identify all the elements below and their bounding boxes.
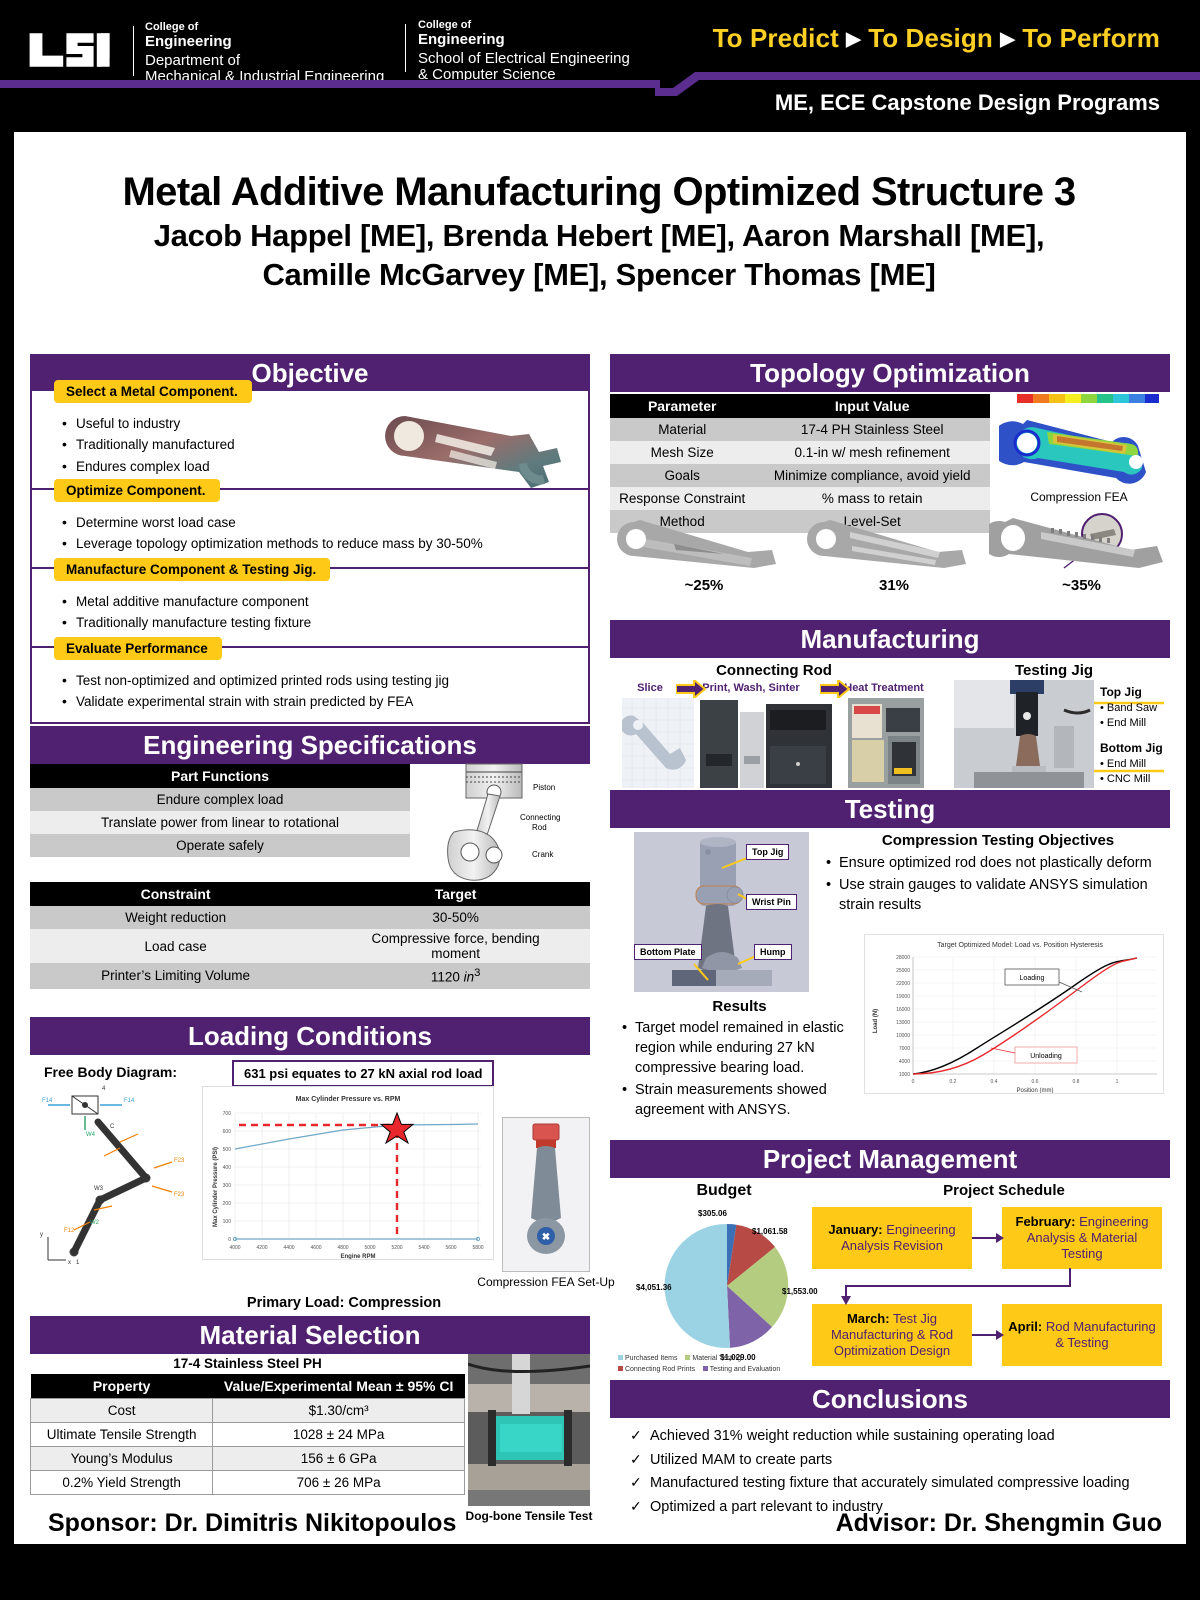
- arrow-icon-step2: [820, 680, 850, 698]
- svg-text:19000: 19000: [896, 994, 910, 1000]
- dept2-school: School of Electrical Engineering: [418, 51, 630, 67]
- schedule-month-march: March:: [847, 1311, 890, 1326]
- svg-text:10000: 10000: [896, 1033, 910, 1039]
- list-item: Target model remained in elastic region …: [622, 1018, 857, 1078]
- pie-label-2: $1,061.58: [752, 1227, 788, 1236]
- schedule-box-march: March: Test Jig Manufacturing & Rod Opti…: [812, 1304, 972, 1366]
- connecting-rod-title: Connecting Rod: [624, 662, 924, 679]
- svg-text:400: 400: [223, 1165, 232, 1171]
- capstone-label: ME, ECE Capstone Design Programs: [775, 90, 1160, 116]
- svg-text:25000: 25000: [896, 968, 910, 974]
- variant-image-1: [614, 514, 794, 574]
- conclusions-list: Achieved 31% weight reduction while sust…: [630, 1426, 1170, 1520]
- arrow-icon-mar-apr: [972, 1328, 1004, 1342]
- dept1-engineering: Engineering: [145, 34, 384, 50]
- table-cell: Response Constraint: [610, 487, 754, 510]
- svg-text:4000: 4000: [229, 1245, 240, 1251]
- svg-text:F14: F14: [42, 1098, 53, 1104]
- objective-pill-4: Evaluate Performance: [54, 637, 222, 660]
- svg-text:F23: F23: [174, 1192, 185, 1198]
- banner-testing: Testing: [610, 790, 1170, 828]
- column-header-input-value: Input Value: [754, 394, 990, 418]
- footer-bar: [0, 1548, 1200, 1600]
- column-header-target: Target: [321, 882, 590, 906]
- svg-text:4600: 4600: [310, 1245, 321, 1251]
- svg-text:700: 700: [223, 1111, 232, 1117]
- svg-text:100: 100: [223, 1219, 232, 1225]
- table-cell: 156 ± 6 GPa: [213, 1447, 465, 1471]
- column-header-value: Value/Experimental Mean ± 95% CI: [213, 1374, 465, 1399]
- table-cell: 1028 ± 24 MPa: [213, 1423, 465, 1447]
- pie-label-1: $305.06: [698, 1209, 727, 1218]
- table-cell: Mesh Size: [610, 441, 754, 464]
- svg-text:0.8: 0.8: [1073, 1079, 1080, 1085]
- svg-text:4000: 4000: [899, 1059, 910, 1065]
- list-item: • End Mill: [1100, 757, 1163, 772]
- top-jig-title: Top Jig: [1100, 685, 1142, 699]
- table-cell: Young’s Modulus: [31, 1447, 213, 1471]
- list-item: Traditionally manufacture testing fixtur…: [62, 612, 588, 633]
- svg-text:13000: 13000: [896, 1020, 910, 1026]
- column-header-parameter: Parameter: [610, 394, 754, 418]
- testing-jig-cad-diagram: Top Jig Wrist Pin Bottom Plate Hump: [634, 832, 809, 992]
- legend-item-2: Material Testing: [685, 1354, 741, 1365]
- column-header-constraint: Constraint: [30, 882, 321, 906]
- variant-label-2: 31%: [804, 577, 984, 594]
- svg-text:0: 0: [228, 1237, 231, 1243]
- callout-text: 631 psi equates to 27 kN axial rod load: [232, 1060, 494, 1087]
- cad-label-wrist-pin: Wrist Pin: [746, 894, 797, 910]
- part-functions-header: Part Functions: [30, 764, 410, 788]
- dept2-engineering: Engineering: [418, 32, 630, 48]
- list-item: Validate experimental strain with strain…: [62, 691, 588, 712]
- diagram-label-piston: Piston: [533, 783, 555, 792]
- list-item: Metal additive manufacture component: [62, 591, 588, 612]
- authors-line-1: Jacob Happel [ME], Brenda Hebert [ME], A…: [34, 217, 1164, 254]
- svg-text:Engine RPM: Engine RPM: [340, 1254, 375, 1259]
- top-jig-notes: Top Jig • Band Saw • End Mill: [1100, 684, 1157, 731]
- schedule-month-april: April:: [1008, 1319, 1042, 1334]
- constraints-table: Constraint Target Weight reduction 30-50…: [30, 882, 590, 989]
- banner-manufacturing: Manufacturing: [610, 620, 1170, 658]
- svg-text:✖: ✖: [542, 1232, 550, 1243]
- table-cell: 30-50%: [321, 906, 590, 929]
- svg-text:22000: 22000: [896, 981, 910, 987]
- svg-text:5600: 5600: [445, 1245, 456, 1251]
- banner-material-selection: Material Selection: [30, 1316, 590, 1354]
- table-cell: Material: [610, 418, 754, 441]
- testing-results: Results Target model remained in elastic…: [622, 998, 857, 1122]
- svg-text:0.6: 0.6: [1032, 1079, 1039, 1085]
- tagline-predict: To Predict: [713, 23, 839, 53]
- dept-block-ece: College of Engineering School of Electri…: [418, 20, 630, 83]
- list-item: • Band Saw: [1100, 701, 1157, 716]
- poster-body: Metal Additive Manufacturing Optimized S…: [14, 132, 1186, 1544]
- tagline-perform: To Perform: [1022, 23, 1160, 53]
- table-cell: % mass to retain: [754, 487, 990, 510]
- bottom-jig-notes: Bottom Jig • End Mill • CNC Mill: [1100, 740, 1163, 787]
- dogbone-tensile-photo: [468, 1354, 590, 1506]
- chart-annotation-loading: Loading: [1020, 975, 1045, 982]
- schedule-month-january: January:: [828, 1222, 882, 1237]
- dogbone-caption: Dog-bone Tensile Test: [454, 1509, 604, 1523]
- banner-engineering-specifications: Engineering Specifications: [30, 726, 590, 764]
- chart-annotation-unloading: Unloading: [1030, 1053, 1062, 1060]
- table-cell: Ultimate Tensile Strength: [31, 1423, 213, 1447]
- arrow-icon-feb-mar: [834, 1268, 1074, 1306]
- list-item: Manufactured testing fixture that accura…: [630, 1473, 1170, 1494]
- table-cell: 17-4 PH Stainless Steel: [754, 418, 990, 441]
- list-item: Determine worst load case: [62, 512, 588, 533]
- pie-label-5: $4,051.36: [636, 1283, 672, 1292]
- results-list: Target model remained in elastic region …: [622, 1018, 857, 1120]
- lsu-logo: [28, 28, 116, 72]
- topology-table: Parameter Input Value Material17-4 PH St…: [610, 394, 990, 533]
- table-cell: Compressive force, bending moment: [321, 929, 590, 963]
- objective-list-4: Test non-optimized and optimized printed…: [32, 670, 588, 713]
- svg-text:y: y: [40, 1232, 43, 1238]
- table-cell: 1120 in3: [321, 963, 590, 989]
- objective-pill-1: Select a Metal Component.: [54, 380, 252, 403]
- part-functions-table: Part Functions Endure complex load Trans…: [30, 764, 410, 857]
- header-rule-right: [718, 72, 1200, 80]
- svg-text:Rod: Rod: [532, 823, 547, 832]
- schedule-box-january: January: Engineering Analysis Revision: [812, 1207, 972, 1269]
- loading-callout: 631 psi equates to 27 kN axial rod load: [232, 1060, 494, 1087]
- dept-block-me: College of Engineering Department of Mec…: [145, 22, 384, 85]
- header-divider-1: [133, 26, 134, 76]
- svg-text:F12: F12: [64, 1228, 75, 1234]
- material-subtitle: 17-4 Stainless Steel PH: [30, 1356, 465, 1371]
- banner-project-management: Project Management: [610, 1140, 1170, 1178]
- svg-text:4800: 4800: [337, 1245, 348, 1251]
- objectives-list: Ensure optimized rod does not plasticall…: [826, 853, 1170, 915]
- variant-label-3: ~35%: [989, 577, 1174, 594]
- svg-text:7000: 7000: [899, 1046, 910, 1052]
- table-cell: 0.2% Yield Strength: [31, 1471, 213, 1495]
- schedule-box-april: April: Rod Manufacturing & Testing: [1002, 1304, 1162, 1366]
- svg-text:W3: W3: [94, 1186, 104, 1192]
- tagline-design: To Design: [868, 23, 993, 53]
- fbd-label: Free Body Diagram:: [44, 1064, 177, 1080]
- poster-header: College of Engineering Department of Mec…: [0, 0, 1200, 128]
- advisor-label: Advisor: Dr. Shengmin Guo: [836, 1509, 1162, 1538]
- schedule-task-april: Rod Manufacturing & Testing: [1042, 1319, 1155, 1350]
- variant-image-2: [804, 514, 984, 574]
- legend-item-4: Testing and Evaluation: [703, 1365, 780, 1376]
- pie-legend: Purchased Items Material Testing Connect…: [618, 1354, 833, 1375]
- poster-title: Metal Additive Manufacturing Optimized S…: [34, 170, 1164, 215]
- banner-loading-conditions: Loading Conditions: [30, 1017, 590, 1055]
- pie-label-3: $1,553.00: [782, 1287, 818, 1296]
- svg-text:Position (mm): Position (mm): [1016, 1088, 1053, 1093]
- svg-text:16000: 16000: [896, 1007, 910, 1013]
- list-item: Leverage topology optimization methods t…: [62, 533, 588, 554]
- slice-preview-image: [622, 698, 694, 788]
- svg-text:500: 500: [223, 1147, 232, 1153]
- testing-objectives: Compression Testing Objectives Ensure op…: [826, 832, 1170, 917]
- testing-jig-title: Testing Jig: [954, 662, 1154, 679]
- svg-text:0.4: 0.4: [991, 1079, 998, 1085]
- svg-text:W2: W2: [90, 1220, 100, 1226]
- results-title: Results: [622, 998, 857, 1015]
- svg-text:5000: 5000: [364, 1245, 375, 1251]
- compression-fea-setup-image: ✖: [502, 1117, 590, 1272]
- primary-load-caption: Primary Load: Compression: [154, 1295, 534, 1311]
- chart-budget-pie: $305.06 $1,061.58 $1,553.00 $1,029.00 $4…: [622, 1194, 832, 1364]
- list-item: • End Mill: [1100, 716, 1157, 731]
- cad-label-top-jig: Top Jig: [746, 844, 789, 860]
- list-item: Test non-optimized and optimized printed…: [62, 670, 588, 691]
- list-item: Strain measurements showed agreement wit…: [622, 1080, 857, 1120]
- objectives-title: Compression Testing Objectives: [826, 832, 1170, 849]
- legend-item-1: Purchased Items: [618, 1354, 677, 1365]
- list-item: Achieved 31% weight reduction while sust…: [630, 1426, 1170, 1447]
- tagline: To Predict ▶ To Design ▶ To Perform: [713, 23, 1160, 54]
- svg-text:200: 200: [223, 1201, 232, 1207]
- diagram-label-crank: Crank: [532, 850, 554, 859]
- table-row: Translate power from linear to rotationa…: [30, 811, 410, 834]
- table-cell: 0.1-in w/ mesh refinement: [754, 441, 990, 464]
- svg-text:28000: 28000: [896, 955, 910, 961]
- svg-text:5200: 5200: [391, 1245, 402, 1251]
- table-cell: Goals: [610, 464, 754, 487]
- svg-text:4400: 4400: [283, 1245, 294, 1251]
- svg-text:600: 600: [223, 1129, 232, 1135]
- svg-text:0.2: 0.2: [950, 1079, 957, 1085]
- poster-root: College of Engineering Department of Mec…: [0, 0, 1200, 1600]
- list-item: Utilized MAM to create parts: [630, 1450, 1170, 1471]
- table-cell: $1.30/cm³: [213, 1399, 465, 1423]
- svg-text:5400: 5400: [418, 1245, 429, 1251]
- variant-label-1: ~25%: [614, 577, 794, 594]
- table-cell: Minimize compliance, avoid yield: [754, 464, 990, 487]
- table-cell: Weight reduction: [30, 906, 321, 929]
- svg-text:Max Cylinder Pressure vs. RPM: Max Cylinder Pressure vs. RPM: [296, 1096, 401, 1103]
- list-item: • CNC Mill: [1100, 772, 1163, 787]
- svg-text:1: 1: [76, 1260, 80, 1266]
- testing-jig-photo: [954, 680, 1094, 788]
- column-header-property: Property: [31, 1374, 213, 1399]
- title-block: Metal Additive Manufacturing Optimized S…: [34, 170, 1164, 293]
- cad-label-bottom-plate: Bottom Plate: [634, 944, 702, 960]
- variant-image-3: [989, 506, 1174, 578]
- svg-text:300: 300: [223, 1183, 232, 1189]
- header-divider-2: [405, 24, 406, 72]
- table-cell: Load case: [30, 929, 321, 963]
- header-rule-left: [0, 80, 660, 88]
- table-cell: 706 ± 26 MPa: [213, 1471, 465, 1495]
- authors-line-2: Camille McGarvey [ME], Spencer Thomas [M…: [34, 256, 1164, 293]
- svg-text:5800: 5800: [472, 1245, 483, 1251]
- svg-text:4200: 4200: [256, 1245, 267, 1251]
- sponsor-label: Sponsor: Dr. Dimitris Nikitopoulos: [48, 1509, 456, 1538]
- list-item: Ensure optimized rod does not plasticall…: [826, 853, 1170, 873]
- header-rule-notch: [655, 70, 725, 96]
- material-table: Property Value/Experimental Mean ± 95% C…: [30, 1374, 465, 1495]
- objective-pill-2: Optimize Component.: [54, 479, 220, 502]
- svg-text:Load (N): Load (N): [873, 1009, 879, 1033]
- legend-item-3: Connecting Rod Prints: [618, 1365, 695, 1376]
- printer-photo: [700, 698, 832, 788]
- svg-text:0: 0: [912, 1079, 915, 1085]
- compression-fea-image: [999, 394, 1169, 486]
- piston-crank-diagram: Piston Connecting Rod Crank: [412, 760, 590, 882]
- fea-caption: Compression FEA: [999, 490, 1159, 504]
- svg-text:Max Cylinder Pressure (PSI): Max Cylinder Pressure (PSI): [213, 1147, 219, 1227]
- objective-list-2: Determine worst load case Leverage topol…: [32, 512, 588, 555]
- svg-text:Connecting: Connecting: [520, 813, 560, 822]
- table-row: Endure complex load: [30, 788, 410, 811]
- chart-load-vs-position-hysteresis: Target Optimized Model: Load vs. Positio…: [864, 934, 1164, 1094]
- svg-text:C: C: [110, 1124, 115, 1130]
- free-body-diagram: y x F14 F14 W4 4 C F23 F23 F12 W2 1 W3: [34, 1082, 209, 1272]
- objective-pill-3: Manufacture Component & Testing Jig.: [54, 558, 330, 581]
- svg-text:4: 4: [102, 1086, 106, 1092]
- schedule-month-february: February:: [1016, 1214, 1076, 1229]
- banner-topology-optimization: Topology Optimization: [610, 354, 1170, 392]
- table-cell: Printer’s Limiting Volume: [30, 963, 321, 989]
- schedule-box-february: February: Engineering Analysis & Materia…: [1002, 1207, 1162, 1269]
- svg-text:F23: F23: [174, 1158, 185, 1164]
- arrow-icon-step1: [676, 680, 706, 698]
- objective-list-3: Metal additive manufacture component Tra…: [32, 591, 588, 634]
- fea-setup-caption: Compression FEA Set-Up: [466, 1275, 626, 1289]
- table-cell: Cost: [31, 1399, 213, 1423]
- list-item: Use strain gauges to validate ANSYS simu…: [826, 875, 1170, 915]
- svg-text:W4: W4: [86, 1132, 96, 1138]
- dept1-department: Department of: [145, 53, 384, 69]
- arrow-icon-1: ▶: [846, 29, 861, 50]
- chart-max-cylinder-pressure: Max Cylinder Pressure vs. RPM Max Cylind…: [202, 1086, 494, 1260]
- heat-treatment-photo: [848, 698, 924, 788]
- schedule-title: Project Schedule: [844, 1182, 1164, 1199]
- arrow-icon-jan-feb: [972, 1231, 1004, 1245]
- svg-text:F14: F14: [124, 1098, 135, 1104]
- cad-label-hump: Hump: [754, 944, 792, 960]
- banner-conclusions: Conclusions: [610, 1380, 1170, 1418]
- svg-text:1: 1: [1116, 1079, 1119, 1085]
- arrow-icon-2: ▶: [1000, 29, 1015, 50]
- table-row: Operate safely: [30, 834, 410, 857]
- svg-text:x: x: [68, 1260, 71, 1266]
- bottom-jig-title: Bottom Jig: [1100, 741, 1163, 755]
- objective-group-4: Evaluate Performance Test non-optimized …: [30, 648, 590, 724]
- svg-text:1000: 1000: [899, 1072, 910, 1078]
- mfg-step-slice: Slice: [622, 682, 678, 694]
- svg-text:Target Optimized Model: Load v: Target Optimized Model: Load vs. Positio…: [937, 942, 1103, 949]
